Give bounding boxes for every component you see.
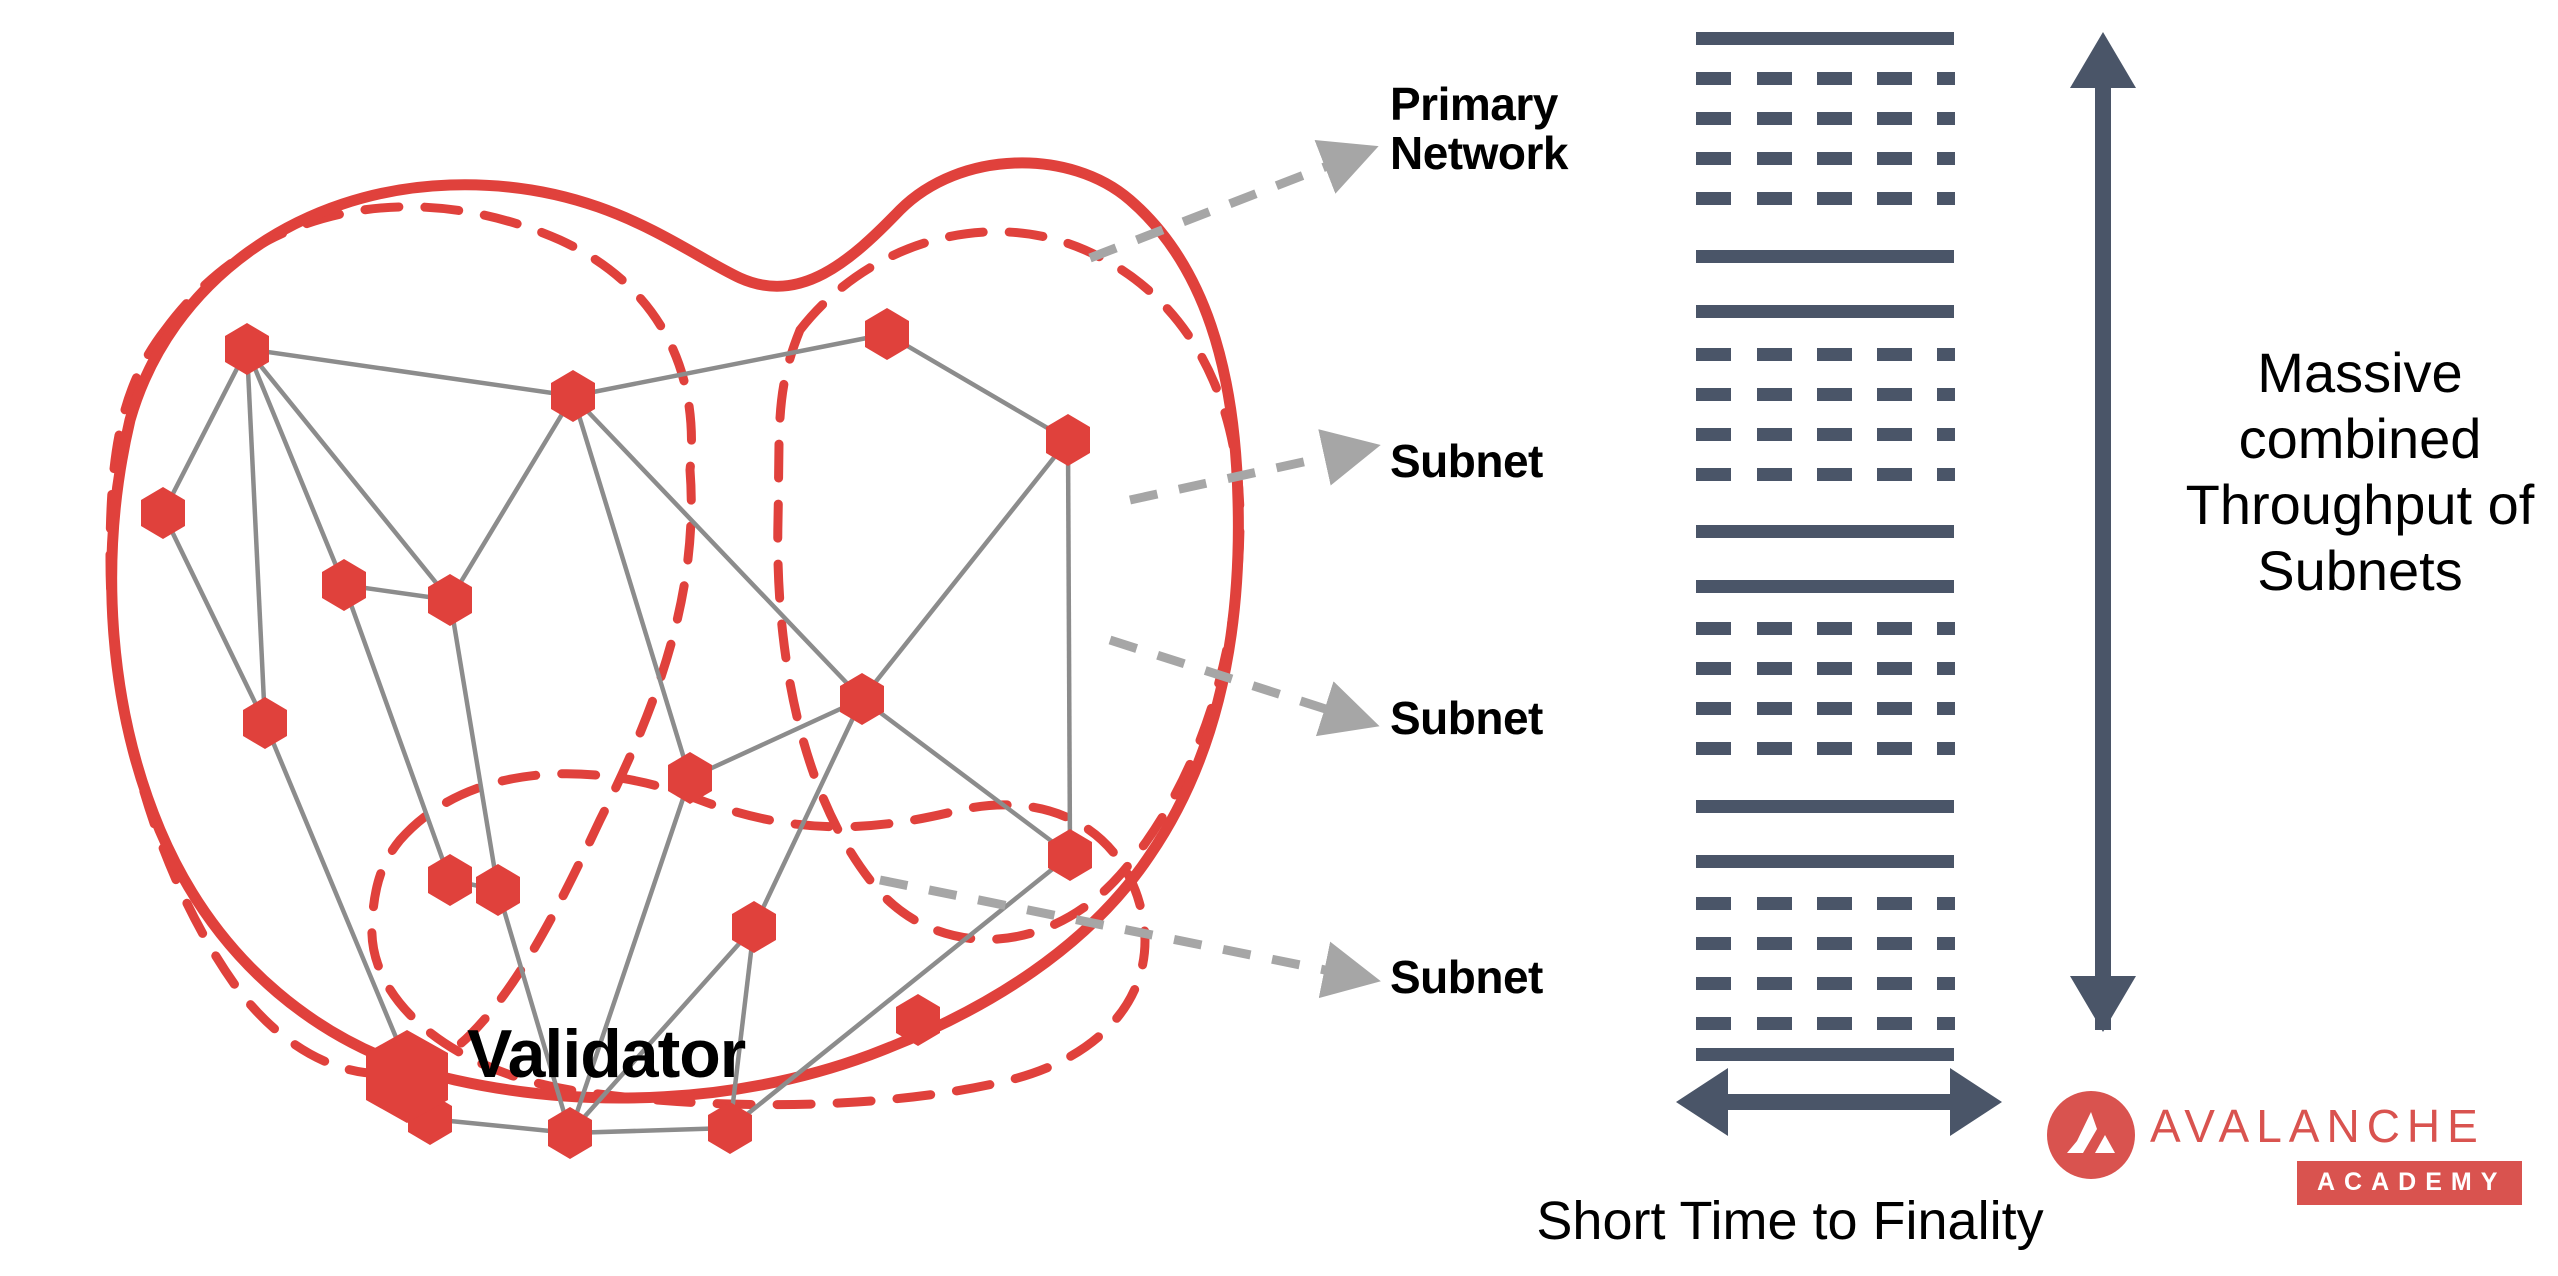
validator-node [225,323,269,375]
ladder-dash-row [1696,1017,1955,1030]
validator-node [840,673,884,725]
ladder-solid-bar [1696,250,1954,263]
primary-network-boundary [112,163,1239,1098]
ladder-solid-bar [1696,32,1954,45]
label-throughput: Massive combined Throughput of Subnets [2170,340,2550,604]
ladder-dash-row [1696,622,1955,635]
label-primary-network: Primary Network [1390,80,1568,178]
ladder-dash-row [1696,72,1955,85]
callout-arrow-subnet-2 [1110,640,1335,712]
ladder-dash-row [1696,937,1955,950]
validator-node [322,559,366,611]
ladder-dash-row [1696,702,1955,715]
ladder-dash-row [1696,388,1955,401]
diagram-canvas: Primary Network Subnet Subnet Subnet Val… [0,0,2558,1276]
ladder-dash-row [1696,742,1955,755]
ladder-dash-row [1696,662,1955,675]
ladder-solid-bar [1696,800,1954,813]
ladder-dash-row [1696,348,1955,361]
ladder-dash-row [1696,897,1955,910]
validator-node [732,901,776,953]
validator-node [1048,829,1092,881]
ladder-solid-bar [1696,1048,1954,1061]
label-subnet-3: Subnet [1390,953,1543,1002]
validator-node [548,1107,592,1159]
callout-arrow-subnet-1 [1130,455,1335,500]
validator-node [708,1102,752,1154]
subnet-boundary-a [110,207,691,1074]
label-subnet-1: Subnet [1390,437,1543,486]
avalanche-academy-logo: AVALANCHE ACADEMY [2047,1091,2517,1221]
label-validator-legend: Validator [467,1018,745,1090]
validator-node [141,487,185,539]
callout-arrow-primary [1090,163,1335,258]
validator-node [428,574,472,626]
ladder-dash-row [1696,977,1955,990]
validator-node [476,864,520,916]
vertical-double-arrow-icon [2070,32,2136,1032]
ladder-solid-bar [1696,525,1954,538]
label-finality: Short Time to Finality [1480,1190,2100,1252]
logo-academy-badge: ACADEMY [2297,1161,2522,1205]
validator-node [865,308,909,360]
logo-wordmark: AVALANCHE [2150,1099,2485,1153]
ladder-solid-bar [1696,580,1954,593]
logo-academy-label: ACADEMY [2317,1168,2506,1196]
validator-legend-hexagon [352,1022,462,1132]
label-subnet-2: Subnet [1390,694,1543,743]
validator-node [243,697,287,749]
network-edges [163,334,1070,1133]
ladder-dash-row [1696,152,1955,165]
subnet-boundaries [110,207,1240,1105]
ladder-dash-row [1696,468,1955,481]
hexagon-icon [366,1030,448,1123]
validator-node [1046,414,1090,466]
subnet-boundary-b [778,232,1240,940]
ladder-dash-row [1696,192,1955,205]
callout-arrows [880,163,1335,972]
avalanche-triangle-icon [2047,1091,2135,1179]
ladder-solid-bar [1696,855,1954,868]
validator-node [668,752,712,804]
horizontal-double-arrow-icon [1676,1068,2002,1136]
ladder-dash-row [1696,428,1955,441]
callout-arrow-subnet-3 [880,880,1335,972]
ladder-solid-bar [1696,305,1954,318]
validator-node [896,994,940,1046]
validator-node [428,854,472,906]
validator-node [551,370,595,422]
ladder-dash-row [1696,112,1955,125]
